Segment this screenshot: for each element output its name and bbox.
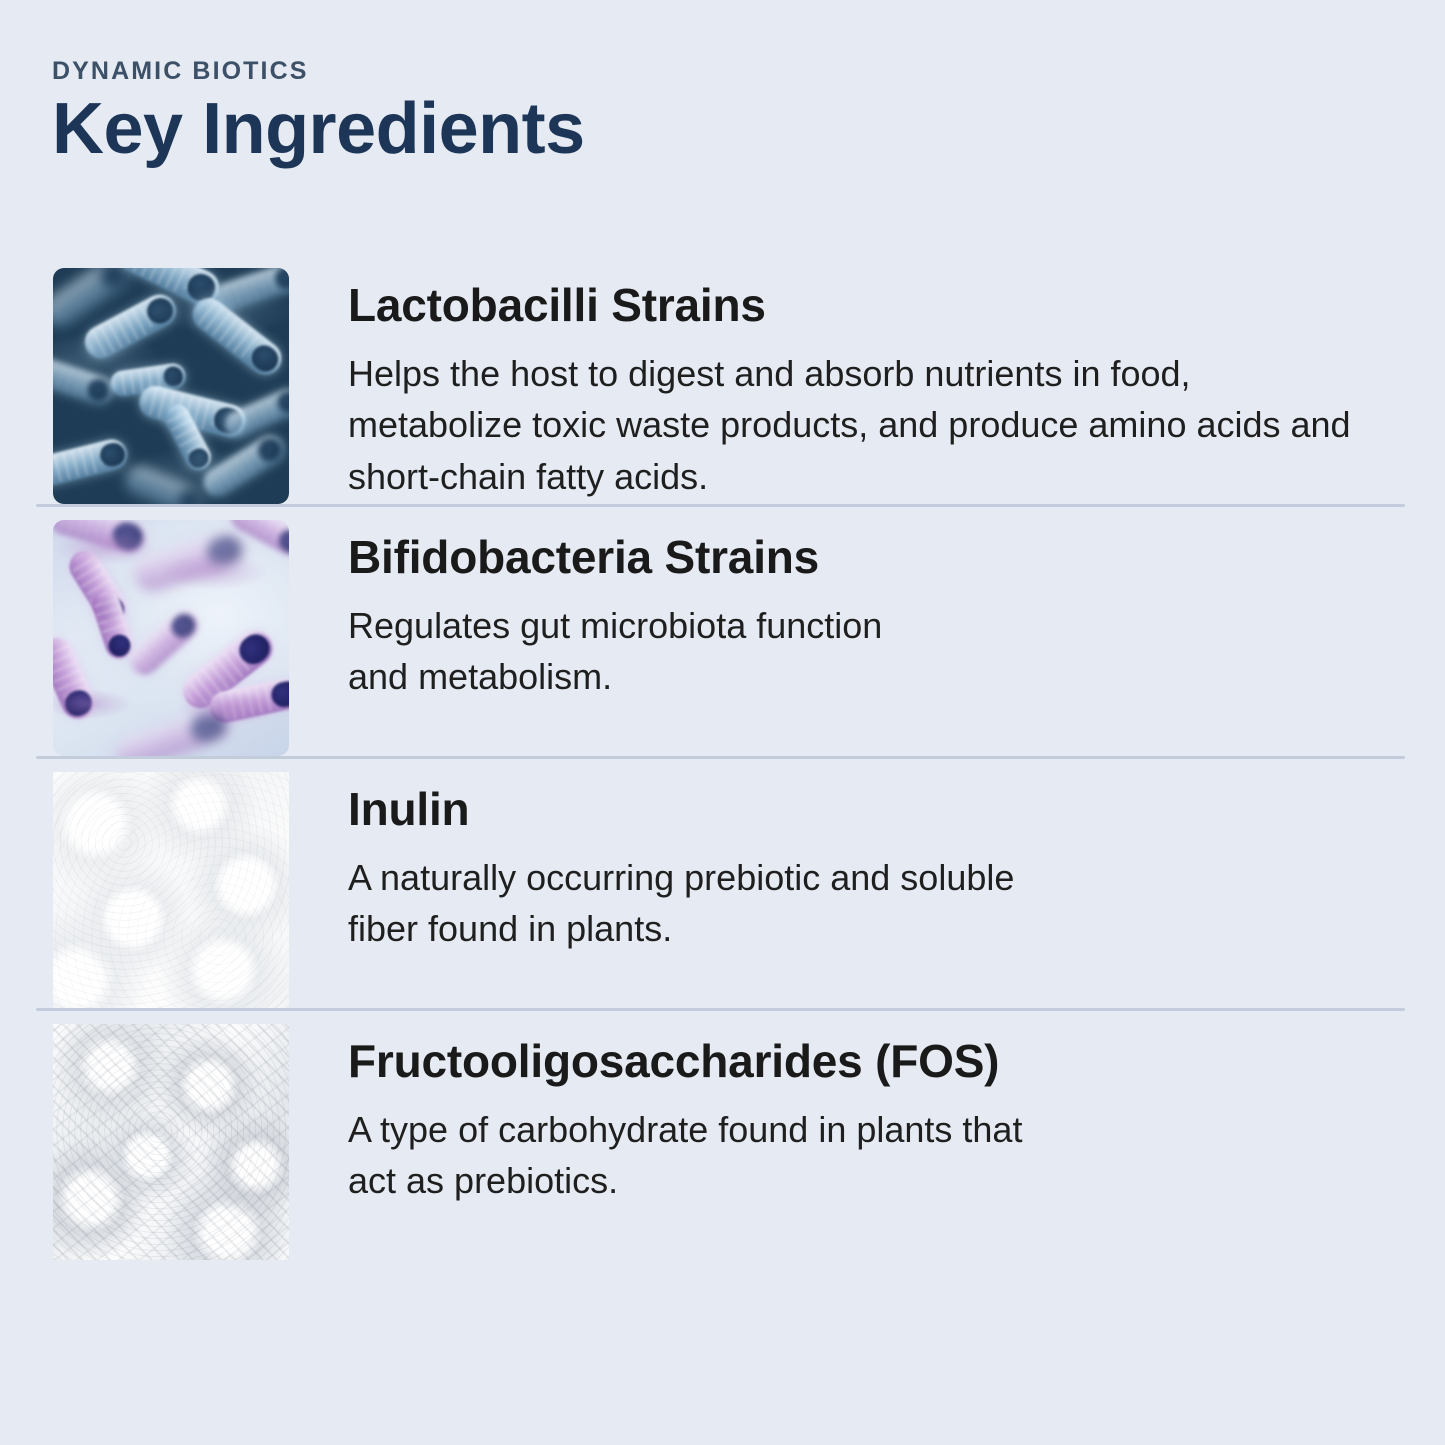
- ingredient-description: Helps the host to digest and absorb nutr…: [348, 348, 1368, 503]
- ingredient-list: Lactobacilli Strains Helps the host to d…: [0, 252, 1445, 1260]
- key-ingredients-infographic: DYNAMIC BIOTICS Key Ingredients: [0, 0, 1445, 1445]
- ingredient-name: Fructooligosaccharides (FOS): [348, 1036, 1395, 1088]
- inulin-powder-thumbnail: [53, 772, 289, 1008]
- list-item: Fructooligosaccharides (FOS) A type of c…: [0, 1008, 1445, 1260]
- list-item: Inulin A naturally occurring prebiotic a…: [0, 756, 1445, 1008]
- bifidobacteria-microscopy-thumbnail: [53, 520, 289, 756]
- ingredient-name: Lactobacilli Strains: [348, 280, 1395, 332]
- ingredient-text: Inulin A naturally occurring prebiotic a…: [289, 772, 1445, 955]
- brand-eyebrow: DYNAMIC BIOTICS: [52, 58, 1392, 86]
- ingredient-description: A naturally occurring prebiotic and solu…: [348, 852, 1368, 956]
- ingredient-text: Bifidobacteria Strains Regulates gut mic…: [289, 520, 1445, 703]
- ingredient-description: A type of carbohydrate found in plants t…: [348, 1104, 1368, 1208]
- ingredient-name: Bifidobacteria Strains: [348, 532, 1395, 584]
- row-divider: [36, 756, 1405, 759]
- header: DYNAMIC BIOTICS Key Ingredients: [52, 58, 1392, 167]
- row-divider: [36, 504, 1405, 507]
- lactobacilli-microscopy-thumbnail: [53, 268, 289, 504]
- page-title: Key Ingredients: [52, 92, 1392, 168]
- row-divider: [36, 1008, 1405, 1011]
- ingredient-description: Regulates gut microbiota function and me…: [348, 600, 1368, 704]
- ingredient-name: Inulin: [348, 784, 1395, 836]
- ingredient-text: Fructooligosaccharides (FOS) A type of c…: [289, 1024, 1445, 1207]
- fos-powder-thumbnail: [53, 1024, 289, 1260]
- ingredient-text: Lactobacilli Strains Helps the host to d…: [289, 268, 1445, 503]
- list-item: Bifidobacteria Strains Regulates gut mic…: [0, 504, 1445, 756]
- list-item: Lactobacilli Strains Helps the host to d…: [0, 252, 1445, 504]
